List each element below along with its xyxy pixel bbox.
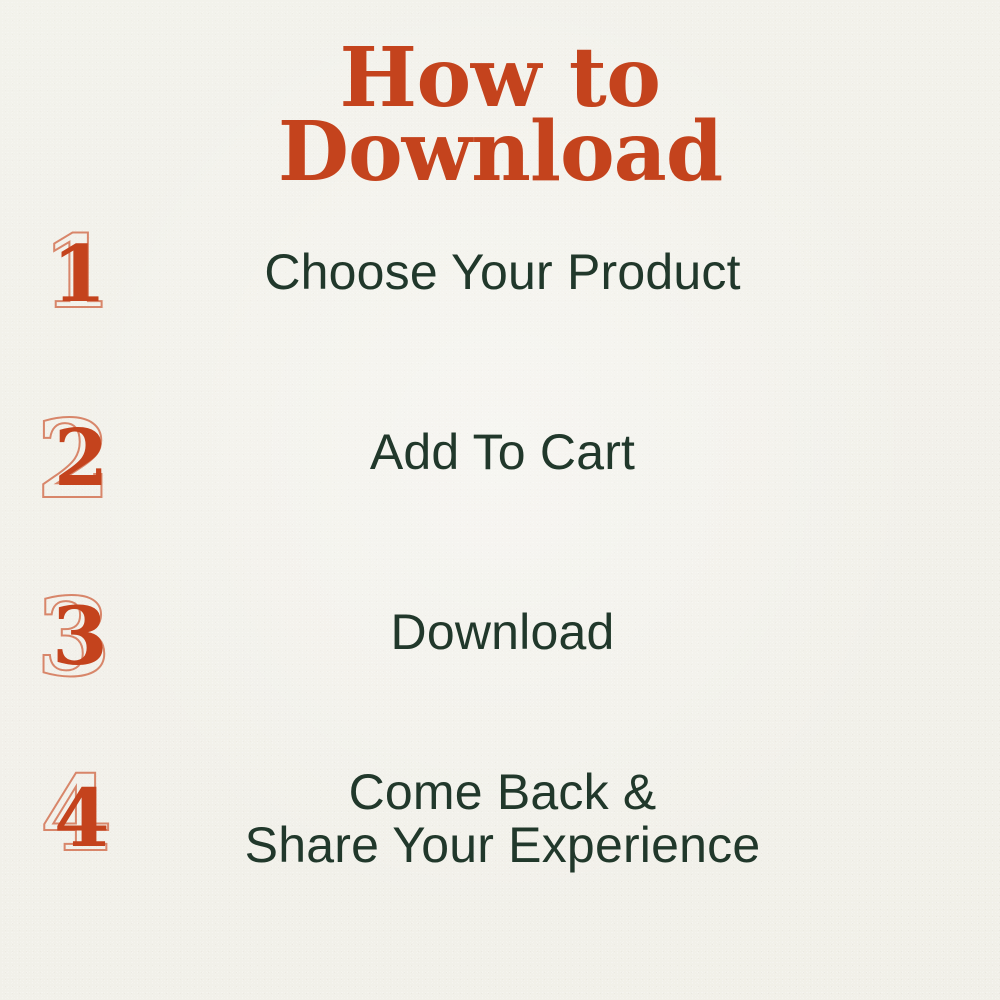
step-item-4: 4 4 Come Back & Share Your Experience bbox=[0, 762, 1000, 942]
step-label-line-1-0: Choose Your Product bbox=[190, 246, 815, 299]
step-item-3: 3 3 Download bbox=[0, 582, 1000, 762]
step-item-1: 1 1 Choose Your Product bbox=[0, 222, 1000, 402]
step-label-3: Download bbox=[190, 606, 815, 659]
step-number-badge-1: 1 1 bbox=[26, 222, 176, 362]
step-label-2: Add To Cart bbox=[190, 426, 815, 479]
step-number-badge-4: 4 4 bbox=[26, 762, 176, 902]
step-label-1: Choose Your Product bbox=[190, 246, 815, 299]
step-number-solid-1: 1 bbox=[52, 236, 106, 314]
step-number-solid-4: 4 bbox=[54, 778, 110, 858]
step-number-solid-3: 3 bbox=[52, 596, 108, 676]
step-label-line-3-0: Download bbox=[190, 606, 815, 659]
step-label-4: Come Back & Share Your Experience bbox=[190, 766, 815, 872]
step-label-line-2-0: Add To Cart bbox=[190, 426, 815, 479]
step-label-line-4-0: Come Back & bbox=[190, 766, 815, 819]
step-item-2: 2 2 Add To Cart bbox=[0, 402, 1000, 582]
step-number-badge-2: 2 2 bbox=[26, 402, 176, 542]
page-title-line-2: Download bbox=[0, 112, 1000, 192]
how-to-download-poster: How to Download 1 1 Choose Your Product … bbox=[0, 0, 1000, 1000]
steps-list: 1 1 Choose Your Product 2 2 Add To Cart … bbox=[0, 222, 1000, 952]
step-label-line-4-1: Share Your Experience bbox=[190, 819, 815, 872]
step-number-solid-2: 2 bbox=[54, 420, 108, 498]
step-number-badge-3: 3 3 bbox=[26, 582, 176, 722]
page-title: How to Download bbox=[0, 38, 1000, 193]
